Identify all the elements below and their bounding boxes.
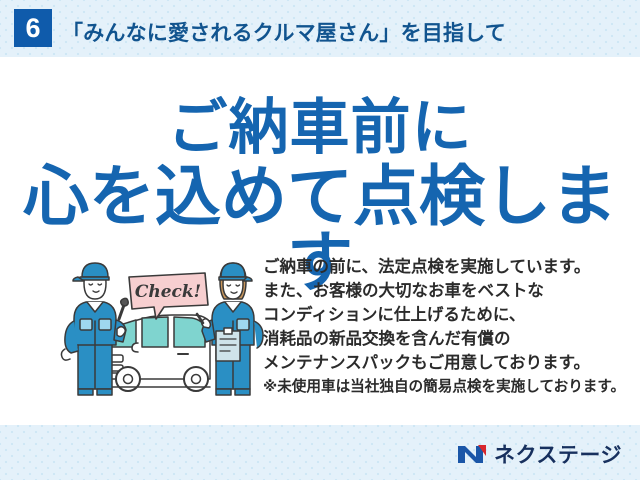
- body-line: コンディションに仕上げるために、: [263, 303, 635, 327]
- body-line: メンテナンスパックもご用意しております。: [263, 351, 635, 375]
- header-title: 「みんなに愛されるクルマ屋さん」を目指して: [62, 17, 506, 47]
- brand-name-label: ネクステージ: [494, 439, 622, 469]
- body-paragraph: ご納車の前に、法定点検を実施しています。 また、お客様の大切なお車をベストな コ…: [263, 255, 635, 375]
- body-line: また、お客様の大切なお車をベストな: [263, 279, 635, 303]
- brand-logo: ネクステージ: [457, 439, 622, 469]
- mechanics-illustration: Check!: [60, 257, 265, 402]
- body-line: ご納車の前に、法定点検を実施しています。: [263, 255, 635, 279]
- content-panel: ご納車前に 心を込めて点検します: [0, 57, 640, 425]
- footnote-text: ※未使用車は当社独自の簡易点検を実施しております。: [263, 377, 635, 397]
- body-line: 消耗品の新品交換を含んだ有償の: [263, 327, 635, 351]
- advertisement-page: 6 「みんなに愛されるクルマ屋さん」を目指して ご納車前に 心を込めて点検します: [0, 0, 640, 480]
- headline-line-1: ご納車前に: [0, 98, 640, 158]
- section-number-label: 6: [25, 15, 40, 42]
- nextage-n-mark-icon: [457, 443, 487, 465]
- header-band: 6 「みんなに愛されるクルマ屋さん」を目指して: [0, 0, 640, 57]
- footer-band: ネクステージ: [0, 425, 640, 480]
- check-bubble-text: Check!: [135, 282, 201, 302]
- section-number-badge: 6: [14, 9, 52, 47]
